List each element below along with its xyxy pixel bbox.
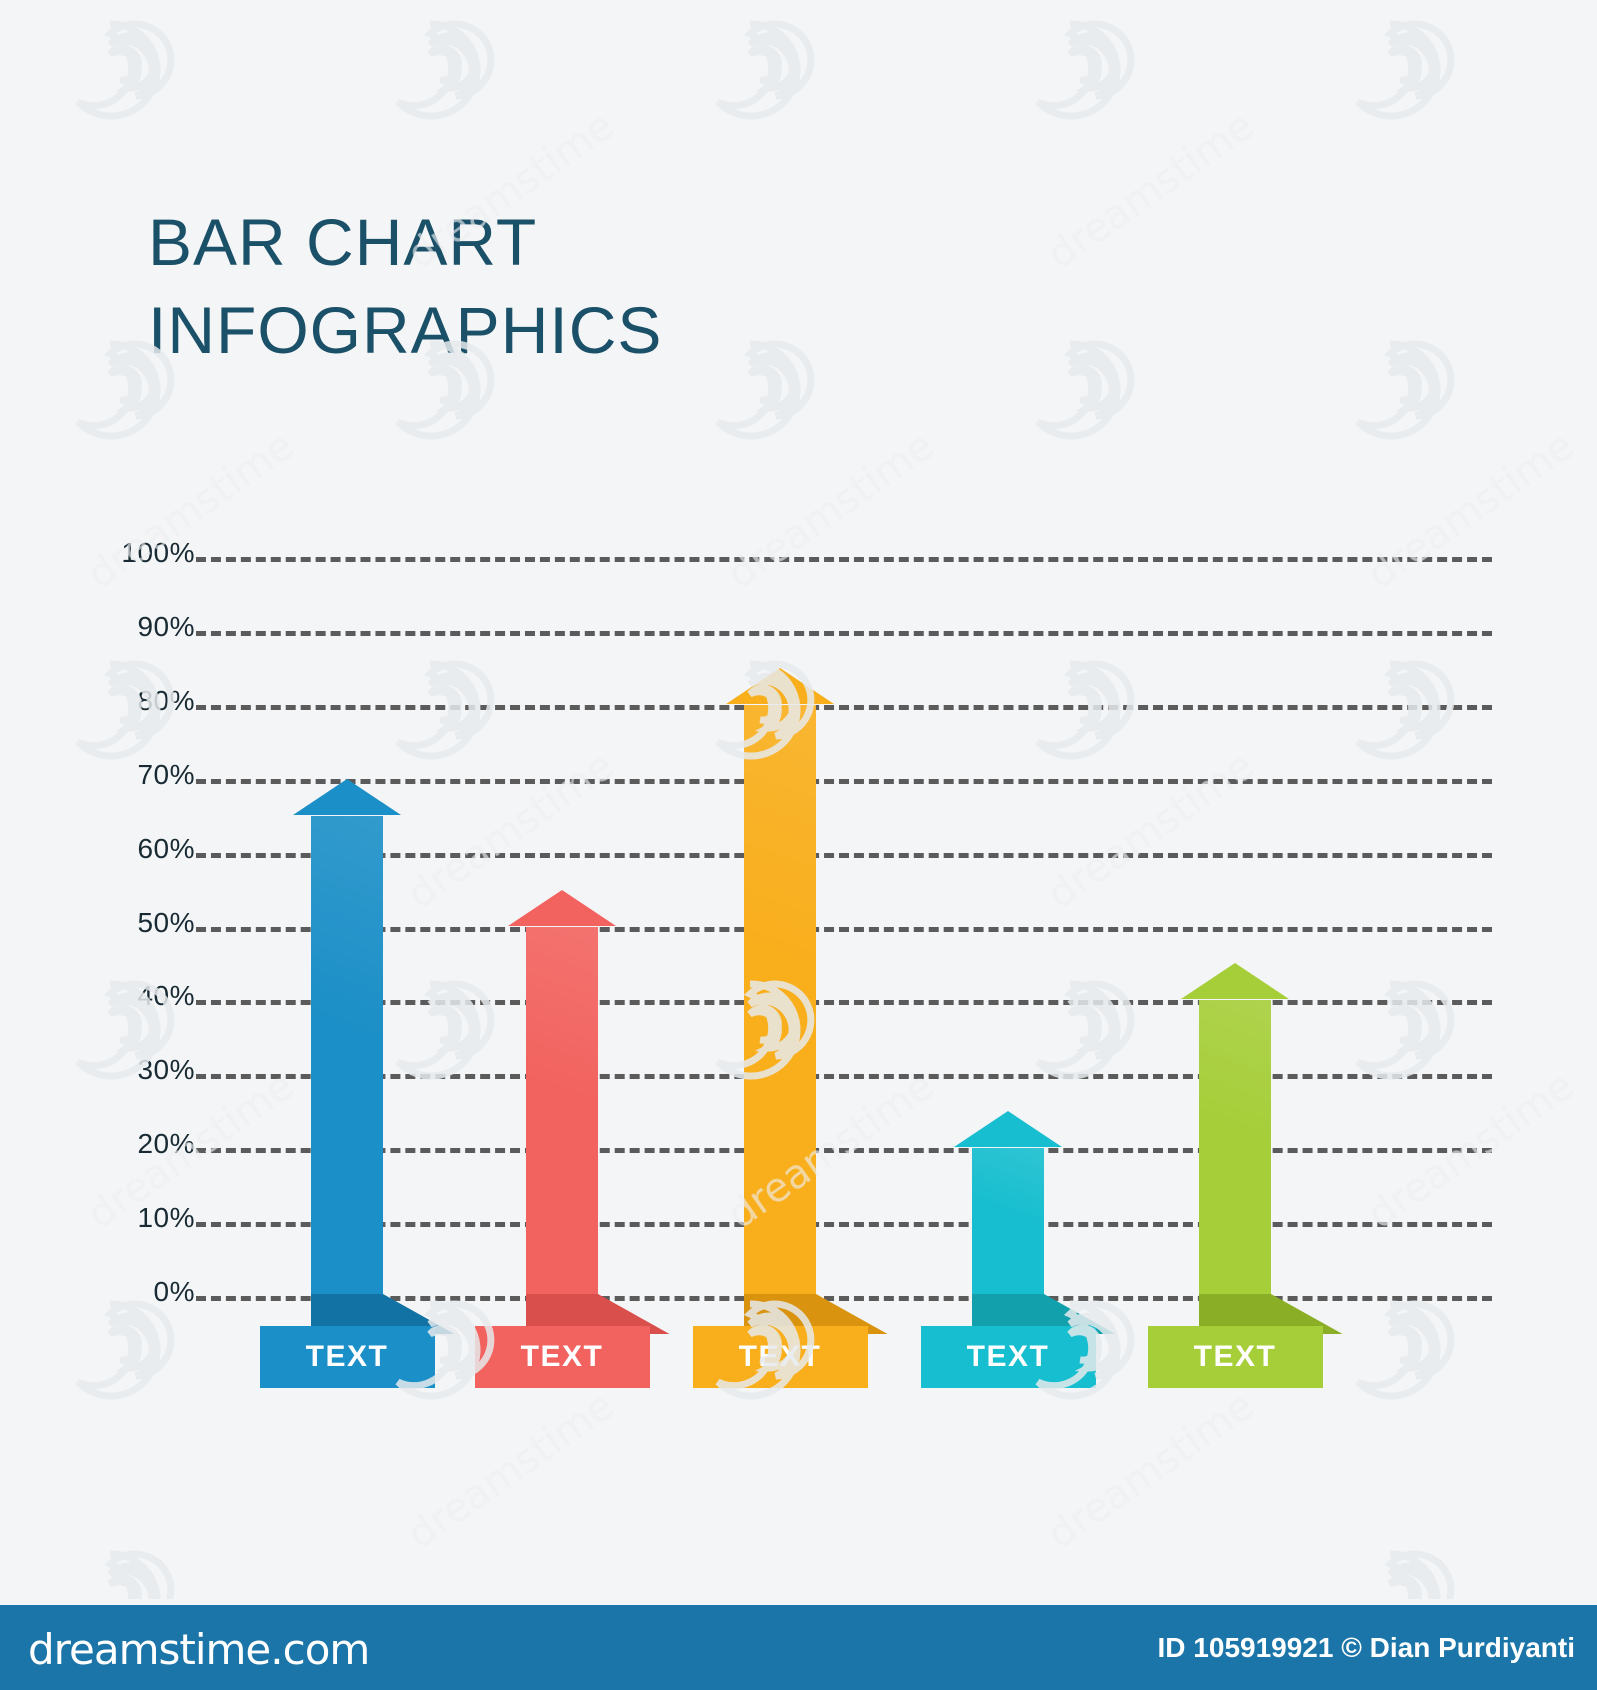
gridline	[196, 705, 1492, 710]
y-axis-tick-label: 70%	[85, 759, 195, 791]
gridline	[196, 631, 1492, 636]
bar-sheen	[1199, 1000, 1271, 1296]
bar-arrow-head	[293, 779, 401, 815]
y-axis-tick-label: 20%	[85, 1128, 195, 1160]
footer-bar: dreamstime.com ID 105919921 © Dian Purdi…	[0, 1605, 1597, 1690]
y-axis-tick-label: 100%	[85, 537, 195, 569]
bar-sheen	[311, 816, 383, 1296]
ribbon-corner-fold	[693, 1326, 733, 1358]
ribbon-corner-fold	[260, 1326, 300, 1358]
gridline	[196, 853, 1492, 858]
gridline	[196, 927, 1492, 932]
y-axis-tick-label: 10%	[85, 1202, 195, 1234]
y-axis-tick-label: 30%	[85, 1054, 195, 1086]
gridline	[196, 557, 1492, 562]
page-title: BAR CHART INFOGRAPHICS	[148, 198, 1048, 374]
bar-sheen	[744, 705, 816, 1296]
y-axis-tick-label: 90%	[85, 611, 195, 643]
gridline	[196, 1148, 1492, 1153]
bar-arrow-head	[508, 890, 616, 926]
gridline	[196, 1222, 1492, 1227]
dreamstime-logo[interactable]: dreamstime.com	[28, 1625, 369, 1674]
y-axis-tick-label: 40%	[85, 980, 195, 1012]
ribbon-corner-fold	[921, 1326, 961, 1358]
y-axis-tick-label: 60%	[85, 833, 195, 865]
bar-sheen	[972, 1148, 1044, 1296]
footer-credit: ID 105919921 © Dian Purdiyanti	[1158, 1632, 1575, 1664]
gridline	[196, 1000, 1492, 1005]
bar-arrow-head	[1181, 963, 1289, 999]
bar-sheen	[526, 927, 598, 1297]
bar-arrow-head	[954, 1111, 1062, 1147]
y-axis-tick-label: 0%	[85, 1276, 195, 1308]
bar-arrow-head	[726, 668, 834, 704]
y-axis-tick-label: 80%	[85, 685, 195, 717]
ribbon-corner-fold	[475, 1326, 515, 1358]
gridline	[196, 1074, 1492, 1079]
y-axis-tick-label: 50%	[85, 907, 195, 939]
ribbon-corner-fold	[1148, 1326, 1188, 1358]
